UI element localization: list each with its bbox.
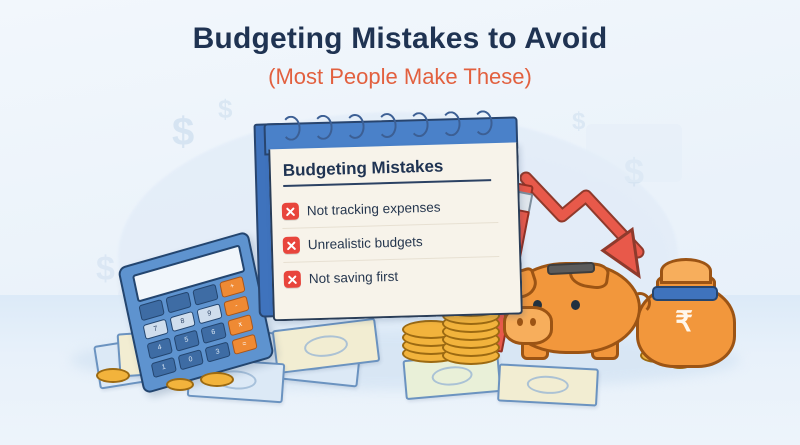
page-title: Budgeting Mistakes to Avoid [0, 22, 800, 56]
x-mark-icon [284, 271, 301, 288]
calculator-key[interactable]: 3 [204, 341, 230, 363]
loose-coin [96, 368, 130, 383]
piggy-nostril [530, 318, 536, 326]
banknote-oval [303, 333, 349, 359]
dollar-watermark: $ [218, 96, 232, 122]
calculator-key[interactable] [165, 291, 191, 313]
calculator-key[interactable]: 7 [143, 318, 169, 340]
calculator-key[interactable]: 1 [151, 356, 177, 378]
calculator-key[interactable]: 8 [169, 310, 195, 332]
money-bag-tie [652, 286, 718, 301]
calculator-key-equals[interactable]: = [231, 333, 257, 355]
calculator-key[interactable] [138, 299, 164, 321]
x-mark-icon [282, 203, 299, 220]
page-subtitle: (Most People Make These) [0, 64, 800, 90]
list-item-label: Unrealistic budgets [308, 234, 423, 252]
list-item-label: Not saving first [309, 269, 399, 286]
money-bag-top [660, 258, 712, 284]
calculator-key[interactable]: 9 [196, 303, 222, 325]
infographic-canvas: $ $ $ $ $ $ Budgeting Mistakes to Avoid … [0, 0, 800, 445]
list-item-label: Not tracking expenses [307, 200, 441, 219]
mistakes-list: Not tracking expenses Unrealistic budget… [281, 189, 500, 296]
calculator-key-subtract[interactable]: - [223, 295, 249, 317]
banknote [497, 363, 599, 406]
x-mark-icon [283, 237, 300, 254]
dollar-watermark: $ [172, 112, 194, 152]
banknote-oval [526, 375, 569, 395]
calculator-key[interactable]: 4 [147, 337, 173, 359]
calculator-key[interactable]: 5 [173, 330, 199, 352]
calculator-key[interactable]: 0 [178, 349, 204, 371]
dollar-watermark: $ [96, 252, 115, 286]
dollar-watermark: $ [572, 110, 585, 134]
banknote-oval [431, 365, 473, 388]
piggy-eye [571, 300, 580, 310]
list-item: Not saving first [283, 257, 500, 296]
calculator-key[interactable] [192, 284, 218, 306]
calculator-key-multiply[interactable]: x [227, 314, 253, 336]
loose-coin [166, 378, 194, 391]
piggy-nostril [517, 318, 523, 326]
calculator-key[interactable]: 6 [200, 322, 226, 344]
loose-coin [200, 372, 234, 387]
calculator-key-add[interactable]: + [219, 276, 245, 298]
notepad: Budgeting Mistakes Not tracking expenses… [253, 108, 526, 315]
